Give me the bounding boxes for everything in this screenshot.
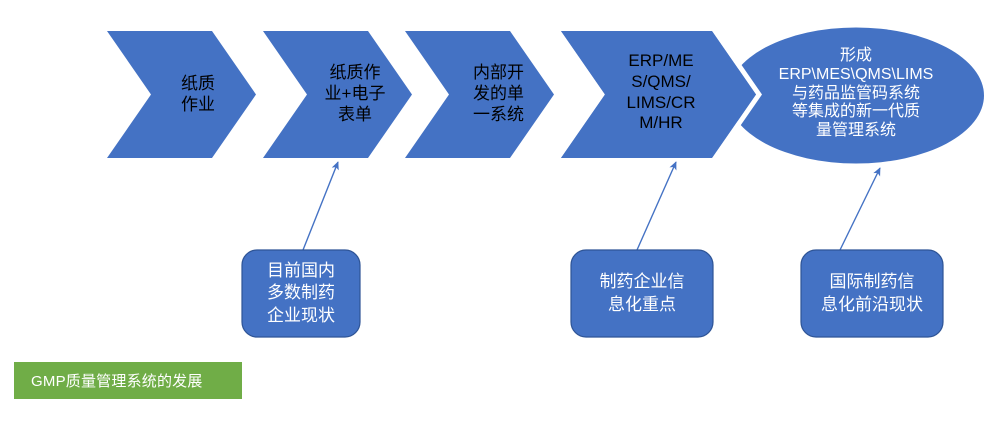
callout-3-label: 国际制药信 息化前沿现状 <box>801 250 943 337</box>
callout-1-label: 目前国内 多数制药 企业现状 <box>242 250 360 337</box>
diagram-canvas: 纸质 作业 纸质作 业+电子 表单 内部开 发的单 一系统 ERP/ME S/Q… <box>0 0 995 422</box>
connector-arrow-3 <box>840 168 880 250</box>
legend-title-label: GMP质量管理系统的发展 <box>14 362 242 399</box>
chevron-stage-3-label: 内部开 发的单 一系统 <box>450 31 547 158</box>
connector-arrow-2 <box>637 162 676 250</box>
chevron-stage-4-label: ERP/ME S/QMS/ LIMS/CR M/HR <box>612 27 710 158</box>
chevron-stage-1-label: 纸质 作业 <box>151 31 245 158</box>
connector-arrow-1 <box>303 162 338 250</box>
chevron-stage-2-label: 纸质作 业+电子 表单 <box>305 31 405 158</box>
callout-2-label: 制药企业信 息化重点 <box>571 250 713 337</box>
ellipse-stage-5-label: 形成 ERP\MES\QMS\LIMS 与药品监管码系统 等集成的新一代质 量管… <box>736 26 976 162</box>
